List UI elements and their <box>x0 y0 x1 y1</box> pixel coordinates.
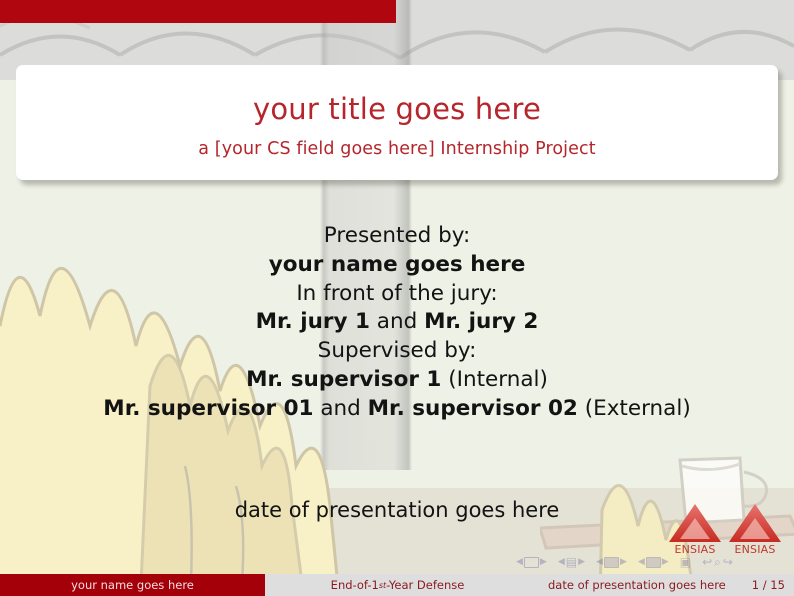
title-box: your title goes here a [your CS field go… <box>16 65 778 180</box>
slide-footer: your name goes here End-of-1st-Year Defe… <box>0 574 794 596</box>
jury-label: In front of the jury: <box>0 280 794 309</box>
back-icon[interactable]: ↩ <box>702 556 712 568</box>
supervisor-external-conjunction: and <box>314 396 368 421</box>
supervisor-internal-tag: (Internal) <box>441 367 547 392</box>
frame-current-icon[interactable]: ▤ <box>566 556 577 568</box>
section-current-icon[interactable] <box>646 557 661 568</box>
slide-next-icon[interactable]: ▶ <box>540 558 547 567</box>
presentation-icon[interactable]: ▣ <box>680 556 691 568</box>
supervisor-external-name-1: Mr. supervisor 01 <box>103 396 313 421</box>
footer-title-superscript: st <box>379 581 386 590</box>
slide-body: Presented by: your name goes here In fro… <box>0 222 794 424</box>
page-subtitle: a [your CS field goes here] Internship P… <box>198 139 595 159</box>
ensias-logos: ENSIAS ENSIAS <box>666 498 786 556</box>
presentation-slide: your title goes here a [your CS field go… <box>0 0 794 596</box>
top-red-bar <box>0 0 396 23</box>
jury-names: Mr. jury 1 and Mr. jury 2 <box>0 308 794 337</box>
footer-title: End-of-1st-Year Defense <box>265 574 530 596</box>
footer-author: your name goes here <box>0 574 265 596</box>
forward-icon[interactable]: ↪ <box>723 556 733 568</box>
jury-name-1: Mr. jury 1 <box>256 309 370 334</box>
slide-prev-icon[interactable]: ◀ <box>516 558 523 567</box>
frame-next-icon[interactable]: ▶ <box>578 558 585 567</box>
supervisor-external-line: Mr. supervisor 01 and Mr. supervisor 02 … <box>0 395 794 424</box>
frame-prev-icon[interactable]: ◀ <box>558 558 565 567</box>
frame-navigation-group[interactable]: ◀ ▤ ▶ <box>558 556 585 568</box>
jury-name-2: Mr. jury 2 <box>424 309 538 334</box>
subsection-current-icon[interactable] <box>604 557 619 568</box>
beamer-navigation-bar[interactable]: ◀ ▶ ◀ ▤ ▶ ◀ ▶ ◀ ▶ ▣ ↩ ⌕ ↪ <box>516 553 778 571</box>
search-icon[interactable]: ⌕ <box>714 556 721 568</box>
supervisor-external-name-2: Mr. supervisor 02 <box>368 396 578 421</box>
supervisor-internal-name: Mr. supervisor 1 <box>246 367 441 392</box>
section-navigation-group[interactable]: ◀ ▶ <box>638 557 669 568</box>
subsection-next-icon[interactable]: ▶ <box>620 558 627 567</box>
ensias-logo-1-icon: ENSIAS <box>666 498 724 556</box>
slide-current-icon[interactable] <box>524 557 539 568</box>
jury-conjunction: and <box>370 309 424 334</box>
footer-page-number: 1 / 15 <box>752 578 785 592</box>
supervisor-internal-line: Mr. supervisor 1 (Internal) <box>0 366 794 395</box>
supervisor-external-tag: (External) <box>578 396 691 421</box>
slide-navigation-group[interactable]: ◀ ▶ <box>516 557 547 568</box>
footer-date: date of presentation goes here <box>548 578 726 592</box>
page-title: your title goes here <box>253 94 541 126</box>
presented-by-label: Presented by: <box>0 222 794 251</box>
author-name: your name goes here <box>0 251 794 280</box>
section-prev-icon[interactable]: ◀ <box>638 558 645 567</box>
footer-title-suffix: -Year Defense <box>386 578 464 592</box>
ensias-logo-2-icon: ENSIAS <box>726 498 784 556</box>
subsection-prev-icon[interactable]: ◀ <box>596 558 603 567</box>
footer-date-and-page: date of presentation goes here 1 / 15 <box>530 574 794 596</box>
subsection-navigation-group[interactable]: ◀ ▶ <box>596 557 627 568</box>
section-next-icon[interactable]: ▶ <box>662 558 669 567</box>
author-name-text: your name goes here <box>269 252 526 277</box>
supervised-by-label: Supervised by: <box>0 337 794 366</box>
footer-title-prefix: End-of-1 <box>331 578 379 592</box>
